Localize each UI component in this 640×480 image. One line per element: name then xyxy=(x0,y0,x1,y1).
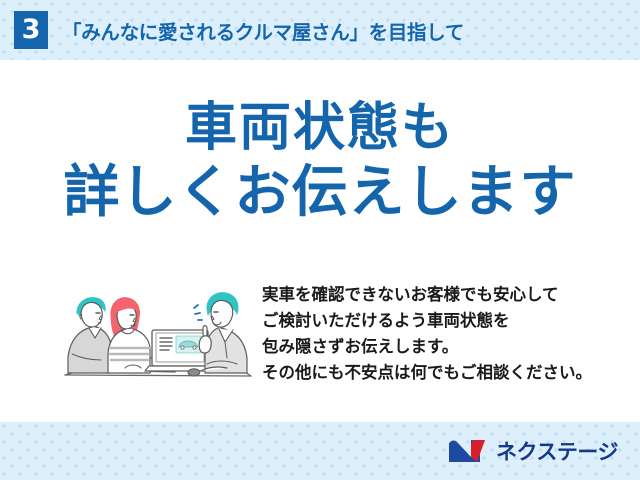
main-content: 車両状態も 詳しくお伝えします xyxy=(0,60,640,422)
nextage-n-mark-icon xyxy=(447,437,489,465)
headline-line-2: 詳しくお伝えします xyxy=(0,160,640,226)
nextage-logo: ネクステージ xyxy=(447,436,618,466)
header-band: 3 「みんなに愛されるクルマ屋さん」を目指して xyxy=(0,0,640,60)
step-number-badge: 3 xyxy=(14,11,48,49)
consultation-illustration xyxy=(55,272,255,387)
body-copy: 実車を確認できないお客様でも安心して ご検討いただけるよう車両状態を 包み隠さず… xyxy=(262,282,622,386)
vehicle-condition-banner: 3 「みんなに愛されるクルマ屋さん」を目指して 車両状態も 詳しくお伝えします xyxy=(0,0,640,480)
body-copy-line: 実車を確認できないお客様でも安心して xyxy=(262,282,622,308)
body-copy-line: 包み隠さずお伝えします。 xyxy=(262,334,622,360)
header-title: 「みんなに愛されるクルマ屋さん」を目指して xyxy=(62,16,464,45)
nextage-logo-text: ネクステージ xyxy=(496,436,618,466)
headline: 車両状態も 詳しくお伝えします xyxy=(0,98,640,226)
headline-line-1: 車両状態も xyxy=(0,98,640,158)
body-copy-line: その他にも不安点は何でもご相談ください。 xyxy=(262,360,622,386)
body-copy-line: ご検討いただけるよう車両状態を xyxy=(262,308,622,334)
footer-band: ネクステージ xyxy=(0,422,640,480)
